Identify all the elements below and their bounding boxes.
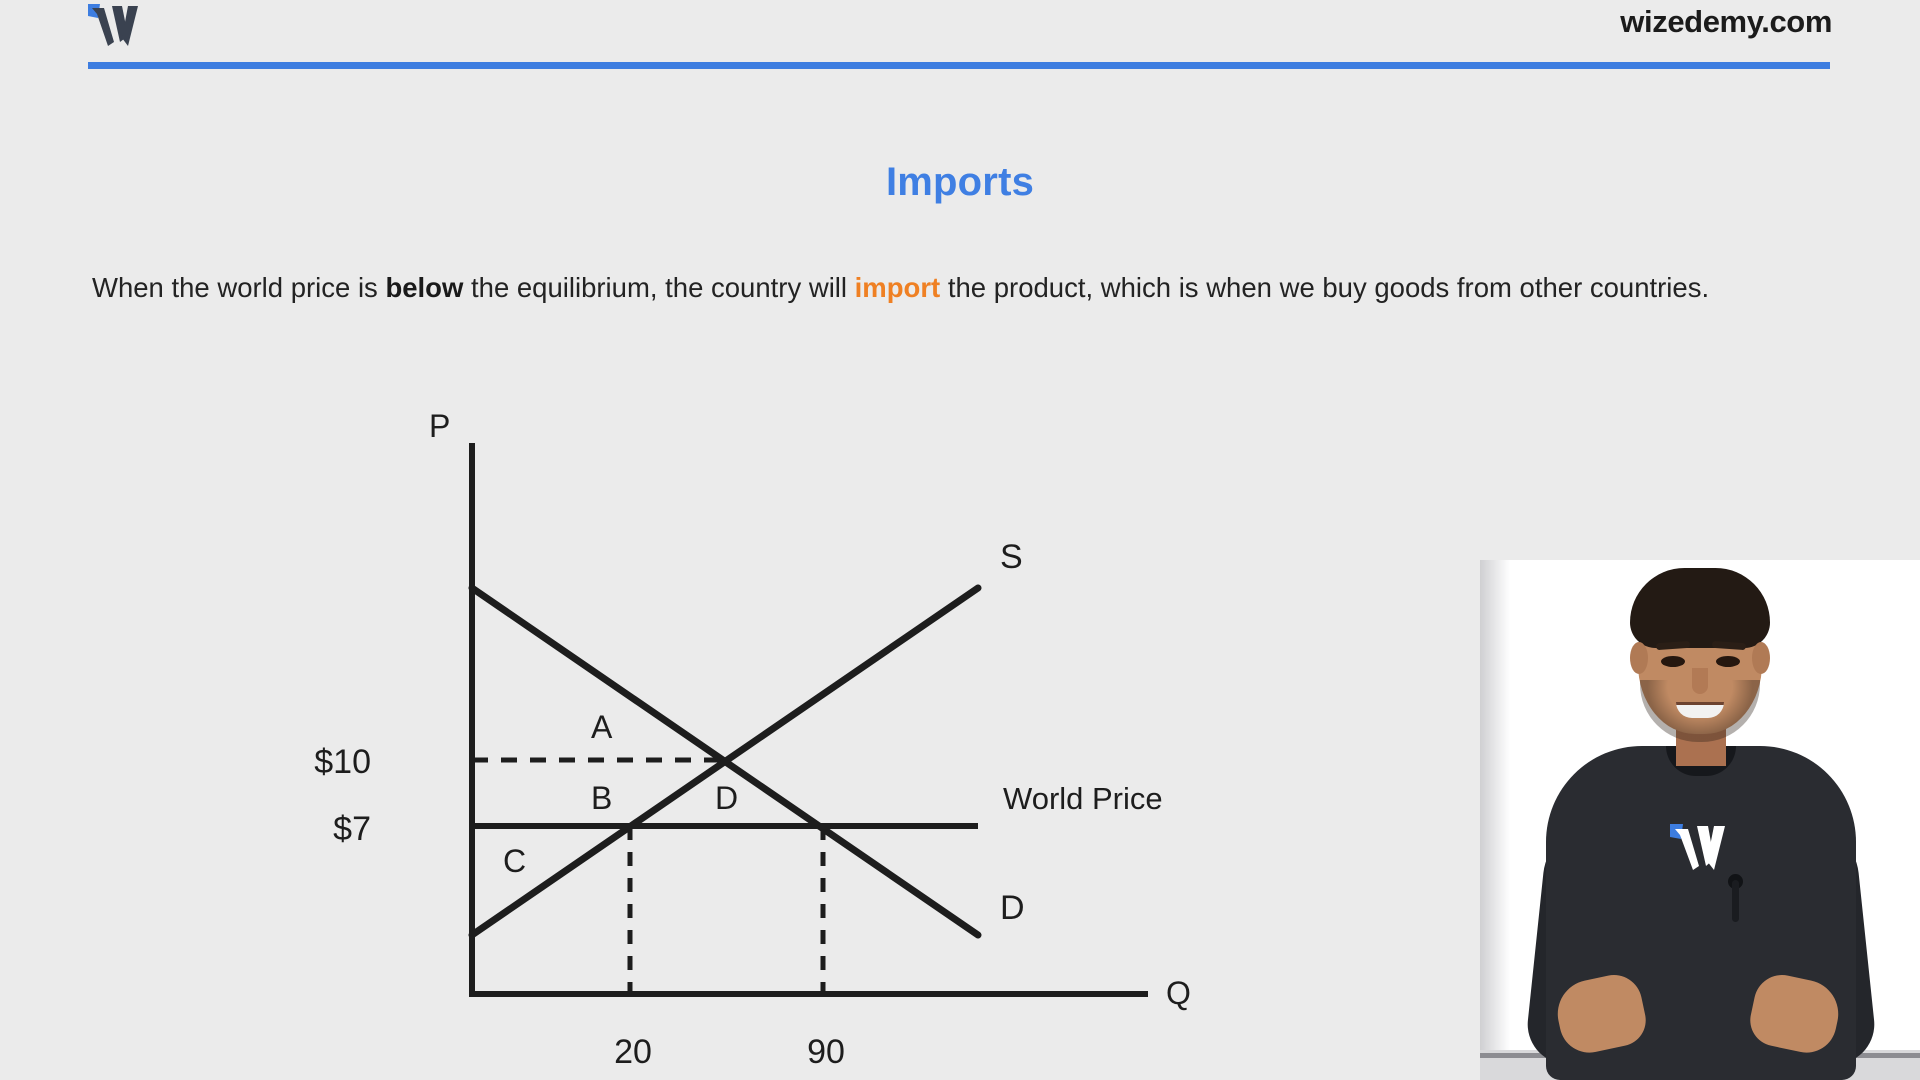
video-background-shadow <box>1480 560 1510 1080</box>
chart-axes <box>469 443 1148 997</box>
region-label-C: C <box>503 843 526 879</box>
x-tick-label-20: 20 <box>614 1033 652 1071</box>
presenter-right-ear <box>1752 642 1770 674</box>
demand-curve-label: D <box>1000 889 1025 927</box>
presenter-left-ear <box>1630 642 1648 674</box>
region-label-A: A <box>591 709 613 745</box>
y-tick-label-7: $7 <box>333 810 371 848</box>
y-tick-label-10: $10 <box>314 743 371 781</box>
y-axis-label-P: P <box>429 408 450 444</box>
region-label-B: B <box>591 780 612 816</box>
x-tick-label-90: 90 <box>807 1033 845 1071</box>
region-label-D: D <box>715 780 738 816</box>
world-price-label: World Price <box>1003 781 1163 816</box>
supply-curve-label: S <box>1000 538 1023 576</box>
shirt-wizedemy-logo-icon <box>1666 822 1738 874</box>
instructor-video-overlay <box>1480 560 1920 1080</box>
lapel-mic <box>1732 880 1739 922</box>
x-axis-label-Q: Q <box>1166 975 1191 1011</box>
slide-canvas: wizedemy.com Imports When the world pric… <box>0 0 1920 1080</box>
presenter-nose <box>1692 668 1708 694</box>
presenter-hair <box>1630 568 1770 648</box>
presenter-left-eye <box>1661 656 1685 667</box>
presenter-right-eye <box>1716 656 1740 667</box>
